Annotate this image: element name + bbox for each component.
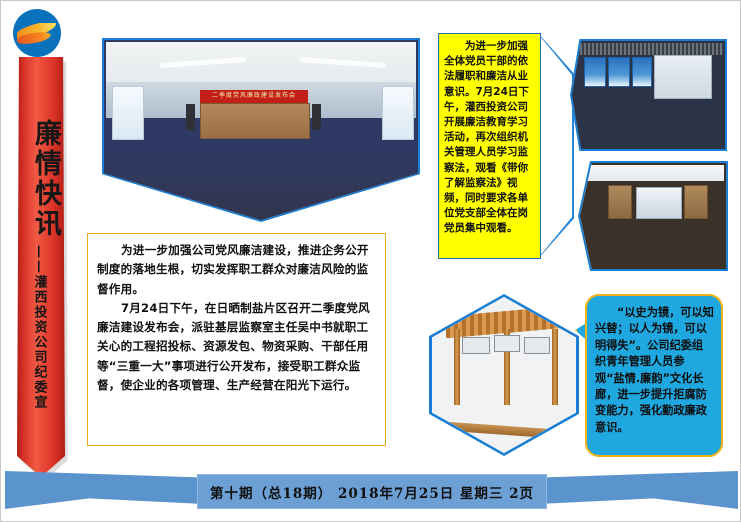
logo-swoosh-shape bbox=[17, 23, 57, 45]
photo-pergola-post-1 bbox=[454, 329, 460, 405]
photo-r2-wall-panel-left bbox=[608, 185, 632, 219]
cyan-callout-text: “以史为镜，可以知兴替；以人为镜，可以明得失”。公司纪委组织青年管理人员参观“盐… bbox=[595, 305, 714, 436]
main-article-paragraph-1: 为进一步加强公司党风廉洁建设，推进企务公开制度的落地生根，切实发挥职工群众对廉洁… bbox=[97, 241, 376, 299]
photo-stone-ledge bbox=[446, 422, 568, 440]
photo-r1-display-panel-a bbox=[584, 57, 606, 87]
cyan-callout: “以史为镜，可以知兴替；以人为镜，可以明得失”。公司纪委组织青年管理人员参观“盐… bbox=[585, 294, 723, 457]
masthead-subtitle-container: ——灌西投资公司纪委宣 bbox=[15, 245, 63, 460]
photo-r1-projection-screen bbox=[654, 55, 712, 99]
photo-window-right bbox=[382, 86, 414, 140]
yellow-callout: 为进一步加强全体党员干部的依法履职和廉洁从业意识。7月24日下午，灌西投资公司开… bbox=[438, 33, 545, 259]
page-title: 廉情快讯 bbox=[15, 99, 63, 259]
newsletter-page: 廉情快讯 ——灌西投资公司纪委宣 二季度党风廉政建设发布会 为进一步加强全体党员… bbox=[0, 0, 741, 522]
yellow-callout-body: 为进一步加强全体党员干部的依法履职和廉洁从业意识。7月24日下午，灌西投资公司开… bbox=[438, 33, 541, 259]
photo-training-room-1-image bbox=[572, 41, 725, 149]
photo-culture-corridor-image bbox=[432, 297, 576, 453]
photo-r2-ceiling bbox=[582, 165, 724, 181]
photo-speaker-left bbox=[186, 104, 195, 130]
photo-meeting-hall-image: 二季度党风廉政建设发布会 bbox=[104, 40, 418, 220]
photo-r1-display-panel-c bbox=[632, 57, 652, 87]
photo-display-board-1 bbox=[462, 337, 490, 354]
photo-window-left bbox=[112, 86, 144, 140]
photo-training-room-2-image bbox=[580, 163, 726, 269]
company-logo-icon bbox=[9, 7, 65, 59]
photo-r2-wall-panel-right bbox=[684, 185, 708, 219]
cyan-callout-body: “以史为镜，可以知兴替；以人为镜，可以明得失”。公司纪委组织青年管理人员参观“盐… bbox=[585, 294, 723, 457]
photo-display-board-2 bbox=[494, 335, 520, 352]
photo-speaker-right bbox=[312, 104, 321, 130]
masthead-banner: 廉情快讯 ——灌西投资公司纪委宣 bbox=[15, 57, 75, 487]
footer-issue-line: 第十期（总18期） 2018年7月25日 星期三 2页 bbox=[210, 482, 534, 502]
photo-stage-backdrop bbox=[200, 103, 310, 139]
yellow-callout-text: 为进一步加强全体党员干部的依法履职和廉洁从业意识。7月24日下午，灌西投资公司开… bbox=[444, 39, 536, 237]
photo-r1-ceiling bbox=[574, 43, 723, 55]
photo-training-room-2 bbox=[578, 161, 728, 271]
photo-r2-projection-screen bbox=[636, 187, 682, 219]
masthead-subtitle: ——灌西投资公司纪委宣 bbox=[32, 245, 47, 460]
photo-culture-corridor bbox=[429, 294, 579, 456]
main-article-paragraph-2: 7月24日下午，在日晒制盐片区召开二季度党风廉洁建设发布会，派驻基层监察室主任吴… bbox=[97, 299, 376, 395]
photo-training-room-1 bbox=[570, 39, 727, 151]
photo-meeting-hall: 二季度党风廉政建设发布会 bbox=[102, 38, 420, 222]
footer-ribbon: 第十期（总18期） 2018年7月25日 星期三 2页 bbox=[1, 469, 741, 511]
photo-display-board-3 bbox=[524, 337, 550, 354]
photo-pergola-post-3 bbox=[552, 329, 558, 405]
photo-meeting-banner-text: 二季度党风廉政建设发布会 bbox=[200, 90, 308, 103]
main-article-box: 为进一步加强公司党风廉洁建设，推进企务公开制度的落地生根，切实发挥职工群众对廉洁… bbox=[87, 233, 386, 446]
photo-r1-display-panel-b bbox=[608, 57, 630, 87]
footer-ribbon-center: 第十期（总18期） 2018年7月25日 星期三 2页 bbox=[197, 474, 547, 509]
